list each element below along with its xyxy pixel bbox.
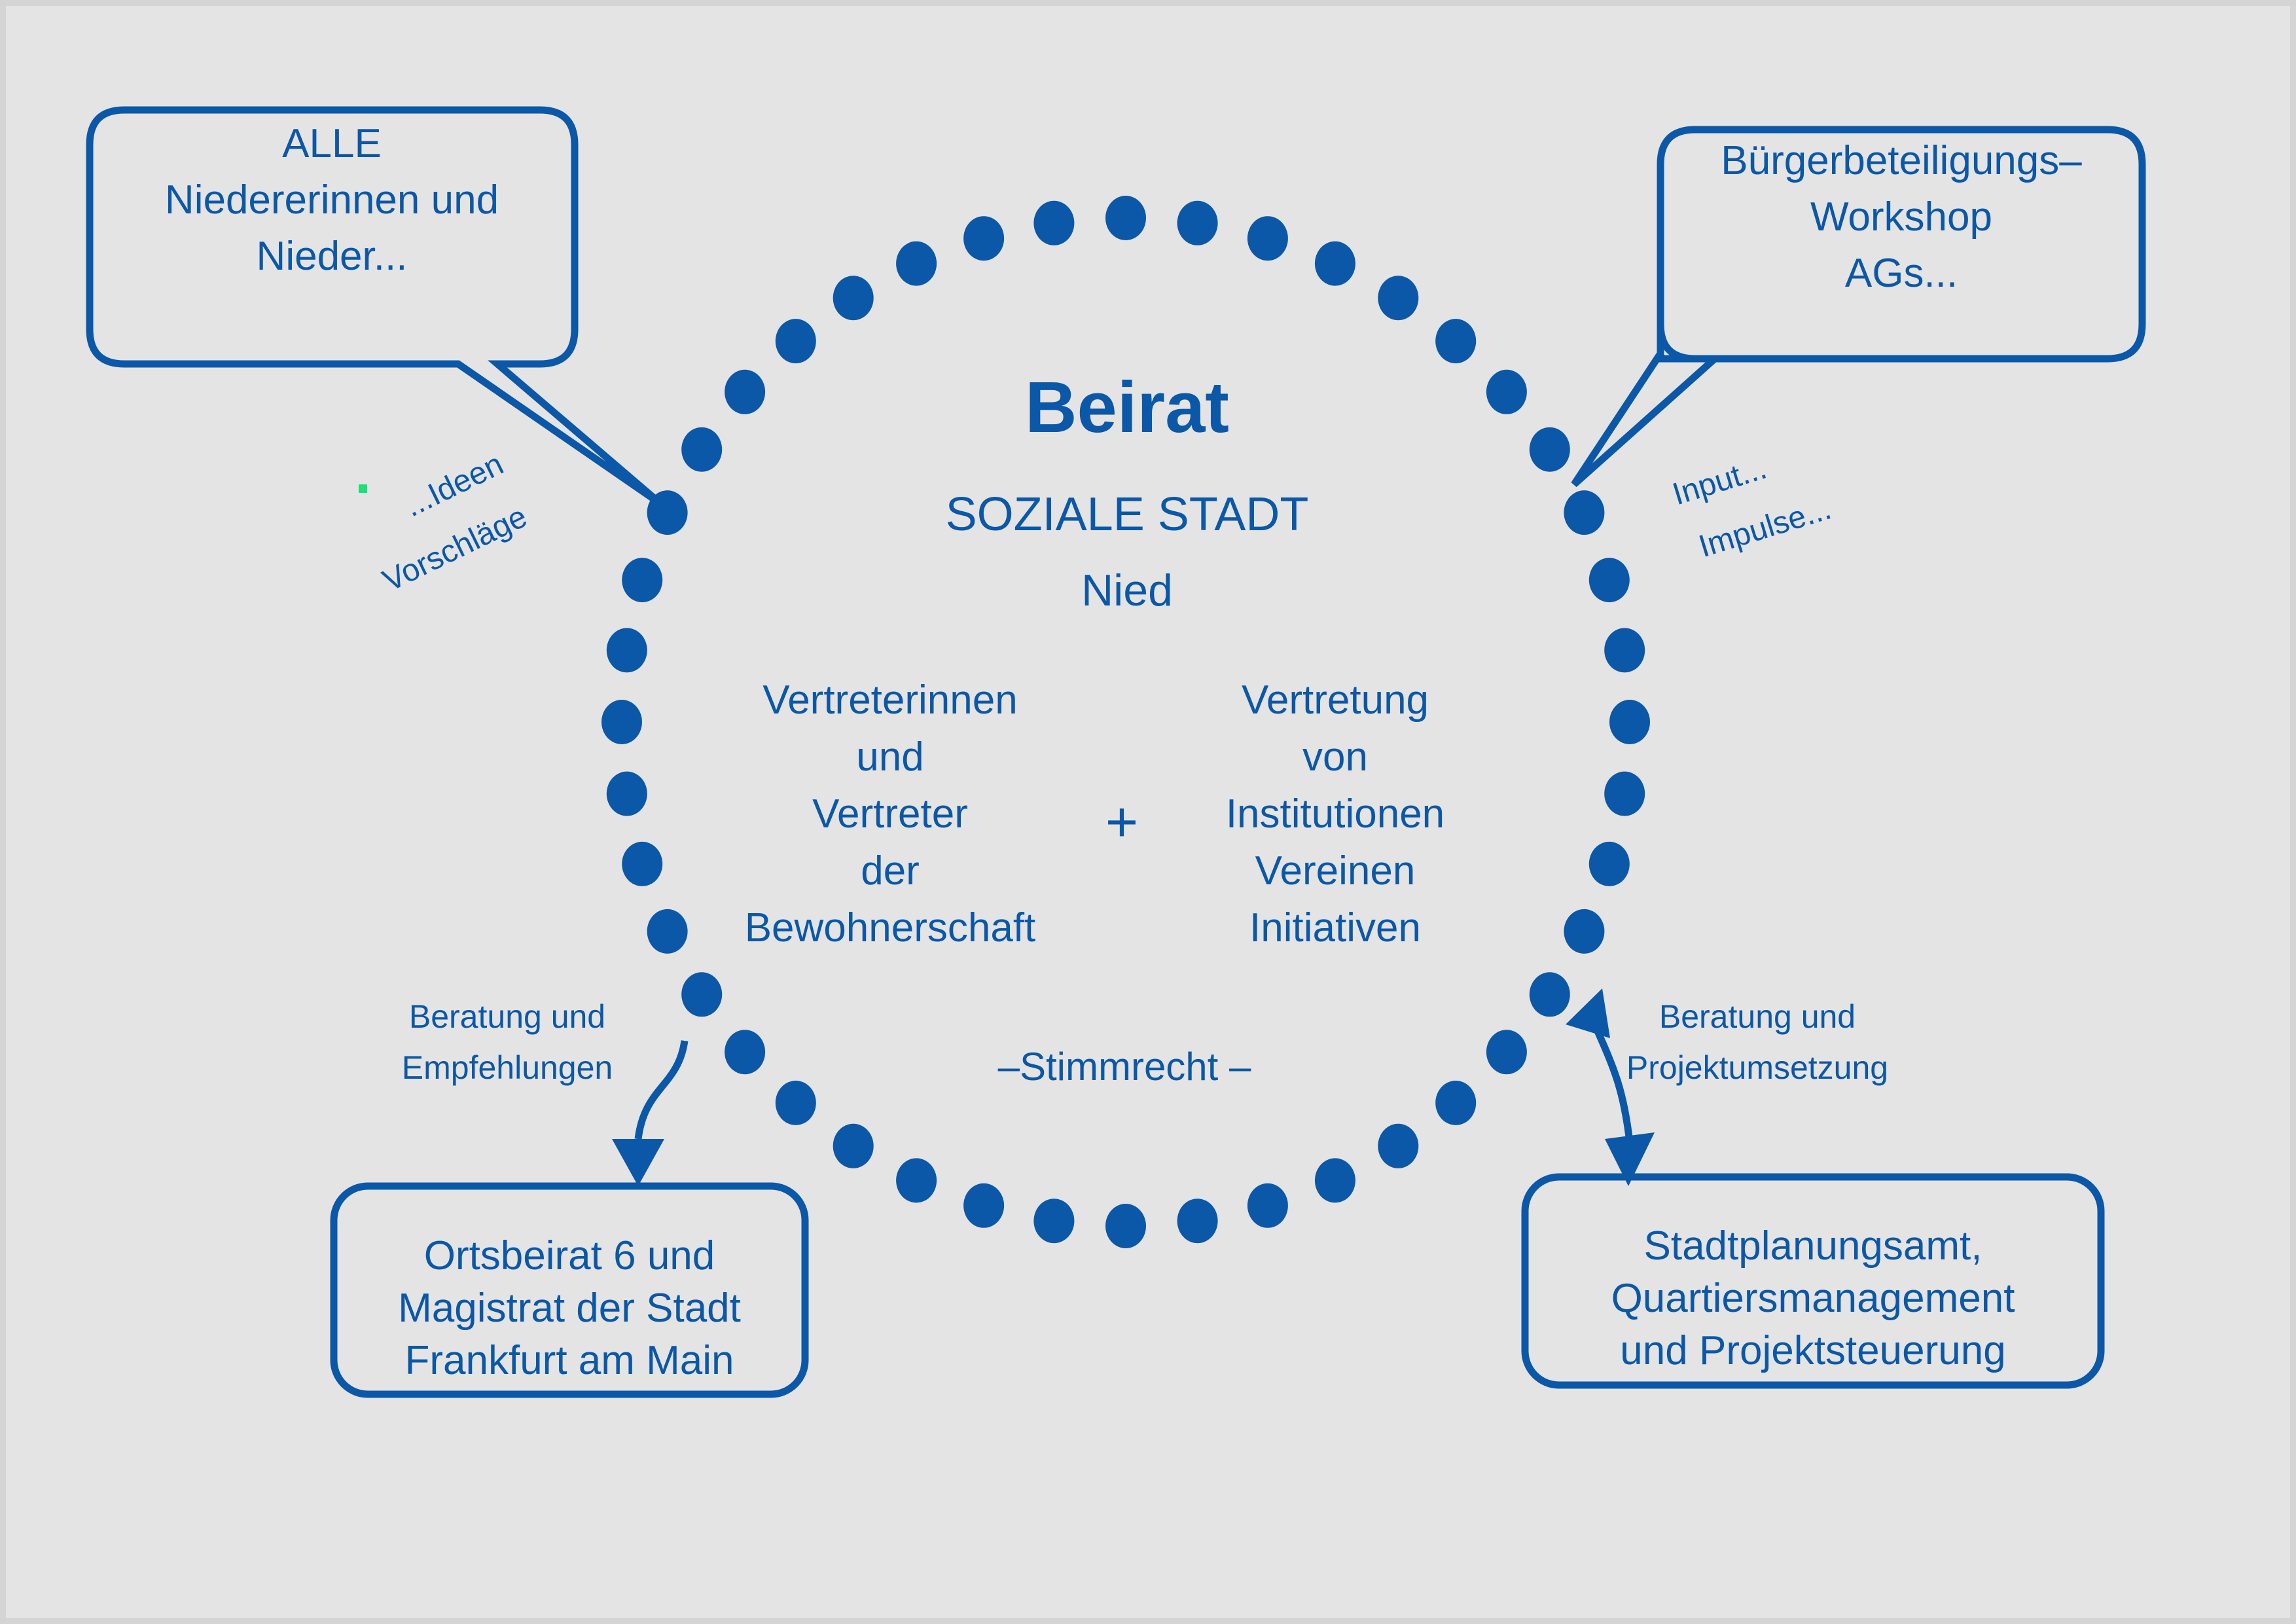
arrow-down-to-ortsbeirat: [612, 1041, 685, 1186]
dotted-circle-ring: [601, 196, 1650, 1248]
speech-bubble-alle-niederer-outline: [90, 110, 661, 504]
ring-dot: [607, 628, 647, 672]
box-ortsbeirat[interactable]: Ortsbeirat 6 und Magistrat der Stadt Fra…: [334, 1186, 805, 1394]
ring-dot: [1177, 1199, 1218, 1243]
speech-bubble-buergerbeteiligung-line-2: Workshop: [1810, 194, 1992, 240]
ring-dot: [1589, 842, 1630, 886]
annotation-input-impulse-line-1: Input...: [1668, 451, 1770, 513]
center-right-column-line-3: Institutionen: [1226, 791, 1444, 837]
ring-dot: [1378, 1124, 1418, 1168]
arrowhead-down-icon: [612, 1139, 664, 1186]
ring-dot: [1315, 1158, 1355, 1202]
ring-dot: [681, 427, 722, 472]
speech-bubble-buergerbeteiligung[interactable]: Bürgerbeteiligungs– Workshop AGs...: [1574, 130, 2142, 484]
ring-dot: [1486, 1030, 1527, 1074]
ring-dot: [963, 1183, 1004, 1228]
ring-dot: [725, 370, 765, 414]
ring-dot: [1564, 490, 1604, 535]
arrow-double-to-stadtplanungsamt: [1566, 988, 1655, 1186]
ring-dot: [1105, 196, 1146, 240]
annotation-ideen-vorschlaege-line-2: Vorschläge: [378, 499, 533, 599]
box-ortsbeirat-line-1: Ortsbeirat 6 und: [424, 1233, 715, 1278]
speech-bubble-buergerbeteiligung-line-1: Bürgerbeteiligungs–: [1721, 138, 2082, 183]
ring-dot: [725, 1030, 765, 1074]
ring-dot: [1604, 772, 1645, 816]
annotation-beratung-projektumsetzung: Beratung und Projektumsetzung: [1626, 998, 1888, 1086]
ring-dot: [622, 842, 662, 886]
box-stadtplanungsamt[interactable]: Stadtplanungsamt, Quartiersmanagement un…: [1525, 1177, 2101, 1385]
ring-dot: [601, 700, 642, 744]
ring-dot: [1530, 972, 1570, 1017]
box-ortsbeirat-line-2: Magistrat der Stadt: [398, 1286, 741, 1331]
annotation-input-impulse-line-2: Impulse...: [1695, 491, 1835, 564]
center-right-column-line-1: Vertretung: [1242, 677, 1429, 723]
speech-bubble-alle-niederer-line-2: Niedererinnen und: [165, 177, 499, 223]
ring-dot: [622, 558, 662, 602]
annotation-beratung-projektumsetzung-line-2: Projektumsetzung: [1626, 1049, 1888, 1086]
box-stadtplanungsamt-line-2: Quartiersmanagement: [1611, 1276, 2015, 1321]
ring-dot: [1033, 201, 1074, 245]
ring-dot: [1609, 700, 1650, 744]
ring-dot: [681, 972, 722, 1017]
speech-bubble-alle-niederer-line-3: Nieder...: [257, 234, 408, 279]
center-right-column: Vertretung von Institutionen Vereinen In…: [1226, 677, 1444, 950]
ring-dot: [1177, 201, 1218, 245]
stimmrecht-label: –Stimmrecht –: [998, 1045, 1251, 1089]
box-ortsbeirat-line-3: Frankfurt am Main: [404, 1338, 734, 1383]
center-title: Beirat: [1025, 367, 1229, 448]
ring-dot: [963, 216, 1004, 261]
arrowhead-up-icon: [1566, 988, 1610, 1038]
ring-dot: [1247, 216, 1288, 261]
ring-dot: [1564, 909, 1604, 954]
annotation-ideen-vorschlaege: ...Ideen Vorschläge: [352, 446, 534, 598]
ring-dot: [1435, 1081, 1476, 1125]
center-left-column-line-5: Bewohnerschaft: [745, 905, 1036, 950]
center-right-column-line-4: Vereinen: [1255, 848, 1416, 893]
speech-bubble-buergerbeteiligung-line-3: AGs...: [1845, 251, 1958, 296]
speech-bubble-alle-niederer[interactable]: ALLE Niedererinnen und Nieder...: [90, 110, 661, 504]
ring-dot: [1530, 427, 1570, 472]
ring-dot: [833, 1124, 874, 1168]
ring-dot: [607, 772, 647, 816]
ring-dot: [1486, 370, 1527, 414]
ring-dot: [1247, 1183, 1288, 1228]
ring-dot: [1033, 1199, 1074, 1243]
ring-dot: [833, 276, 874, 320]
center-right-column-line-5: Initiativen: [1249, 905, 1421, 950]
ring-dot: [1378, 276, 1418, 320]
box-stadtplanungsamt-line-1: Stadtplanungsamt,: [1643, 1223, 1982, 1269]
center-left-column-line-3: Vertreter: [812, 791, 968, 837]
ring-dot: [776, 319, 816, 363]
ring-dot: [1315, 242, 1355, 286]
annotation-beratung-projektumsetzung-line-1: Beratung und: [1659, 998, 1856, 1035]
annotation-beratung-empfehlungen-line-2: Empfehlungen: [402, 1049, 613, 1086]
box-stadtplanungsamt-line-3: und Projektsteuerung: [1620, 1328, 2005, 1373]
diagram-canvas: ALLE Niedererinnen und Nieder... Bürgerb…: [0, 0, 2296, 1624]
ring-dot: [896, 1158, 937, 1202]
speech-bubble-alle-niederer-line-1: ALLE: [282, 121, 382, 166]
center-subtitle-2: Nied: [1081, 566, 1173, 615]
organigramm-svg: ALLE Niedererinnen und Nieder... Bürgerb…: [0, 0, 2296, 1624]
ring-dot: [1589, 558, 1630, 602]
ring-dot: [776, 1081, 816, 1125]
center-left-column: Vertreterinnen und Vertreter der Bewohne…: [745, 677, 1036, 950]
center-left-column-line-4: der: [861, 848, 920, 893]
plus-sign: +: [1105, 791, 1138, 854]
ring-dot: [1105, 1204, 1146, 1248]
ring-dot: [647, 909, 688, 954]
center-left-column-line-2: und: [856, 734, 924, 780]
annotation-input-impulse: Input... Impulse...: [1668, 436, 1835, 567]
center-right-column-line-2: von: [1302, 734, 1368, 780]
annotation-beratung-empfehlungen: Beratung und Empfehlungen: [402, 998, 613, 1086]
center-left-column-line-1: Vertreterinnen: [762, 677, 1017, 723]
ring-dot: [1435, 319, 1476, 363]
green-pixel-artifact: [359, 484, 367, 493]
annotation-beratung-empfehlungen-line-1: Beratung und: [409, 998, 605, 1035]
center-subtitle: SOZIALE STADT: [946, 488, 1309, 541]
ring-dot: [896, 242, 937, 286]
ring-dot: [1604, 628, 1645, 672]
